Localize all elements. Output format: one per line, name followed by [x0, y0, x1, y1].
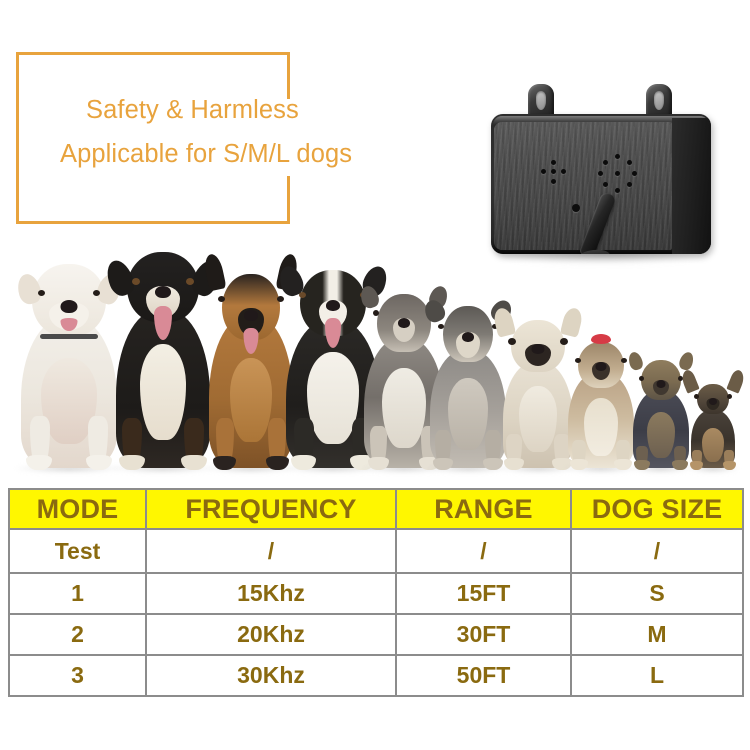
column-header-frequency: FREQUENCY: [146, 489, 396, 529]
cell-range: /: [396, 529, 571, 573]
table-row: 1 15Khz 15FT S: [9, 573, 743, 614]
cell-frequency: 15Khz: [146, 573, 396, 614]
table-row: 3 30Khz 50FT L: [9, 655, 743, 696]
table-header-row: MODE FREQUENCY RANGE DOG SIZE: [9, 489, 743, 529]
cell-mode: Test: [9, 529, 146, 573]
cell-range: 30FT: [396, 614, 571, 655]
cell-mode: 2: [9, 614, 146, 655]
headline: Safety & Harmless Applicable for S/M/L d…: [48, 88, 468, 176]
column-header-range: RANGE: [396, 489, 571, 529]
dog-chihuahua: [686, 382, 740, 470]
table-row: Test / / /: [9, 529, 743, 573]
cell-mode: 3: [9, 655, 146, 696]
cell-range: 50FT: [396, 655, 571, 696]
cell-frequency: /: [146, 529, 396, 573]
headline-line-2: Applicable for S/M/L dogs: [48, 132, 468, 176]
dog-lineup: [0, 238, 750, 470]
cell-range: 15FT: [396, 573, 571, 614]
frame-right-bottom-border: [287, 176, 290, 224]
hair-bow-icon: [591, 334, 611, 344]
device-side-panel: [672, 118, 711, 254]
cell-dog-size: S: [571, 573, 743, 614]
cell-dog-size: M: [571, 614, 743, 655]
headline-line-1: Safety & Harmless: [48, 88, 468, 132]
cell-dog-size: /: [571, 529, 743, 573]
cell-mode: 1: [9, 573, 146, 614]
cell-dog-size: L: [571, 655, 743, 696]
cell-frequency: 30Khz: [146, 655, 396, 696]
spec-table: MODE FREQUENCY RANGE DOG SIZE Test / / /…: [8, 488, 744, 697]
frame-left-border: [16, 52, 19, 224]
product-infographic: Safety & Harmless Applicable for S/M/L d…: [0, 0, 750, 750]
device-body: [491, 114, 711, 254]
speaker-grille-small-icon: [541, 160, 567, 186]
column-header-mode: MODE: [9, 489, 146, 529]
dog-bernese-tricolor: [110, 252, 216, 470]
dog-white-bulldog: [14, 260, 124, 470]
frame-top-border: [16, 52, 290, 55]
column-header-dog-size: DOG SIZE: [571, 489, 743, 529]
mount-tab-left-icon: [528, 84, 554, 118]
speaker-grille-large-icon: [598, 154, 638, 194]
frame-bottom-border: [16, 221, 290, 224]
led-indicator-icon: [572, 204, 580, 212]
table-row: 2 20Khz 30FT M: [9, 614, 743, 655]
device-front-panel: [494, 122, 672, 250]
mount-tab-right-icon: [646, 84, 672, 118]
cell-frequency: 20Khz: [146, 614, 396, 655]
